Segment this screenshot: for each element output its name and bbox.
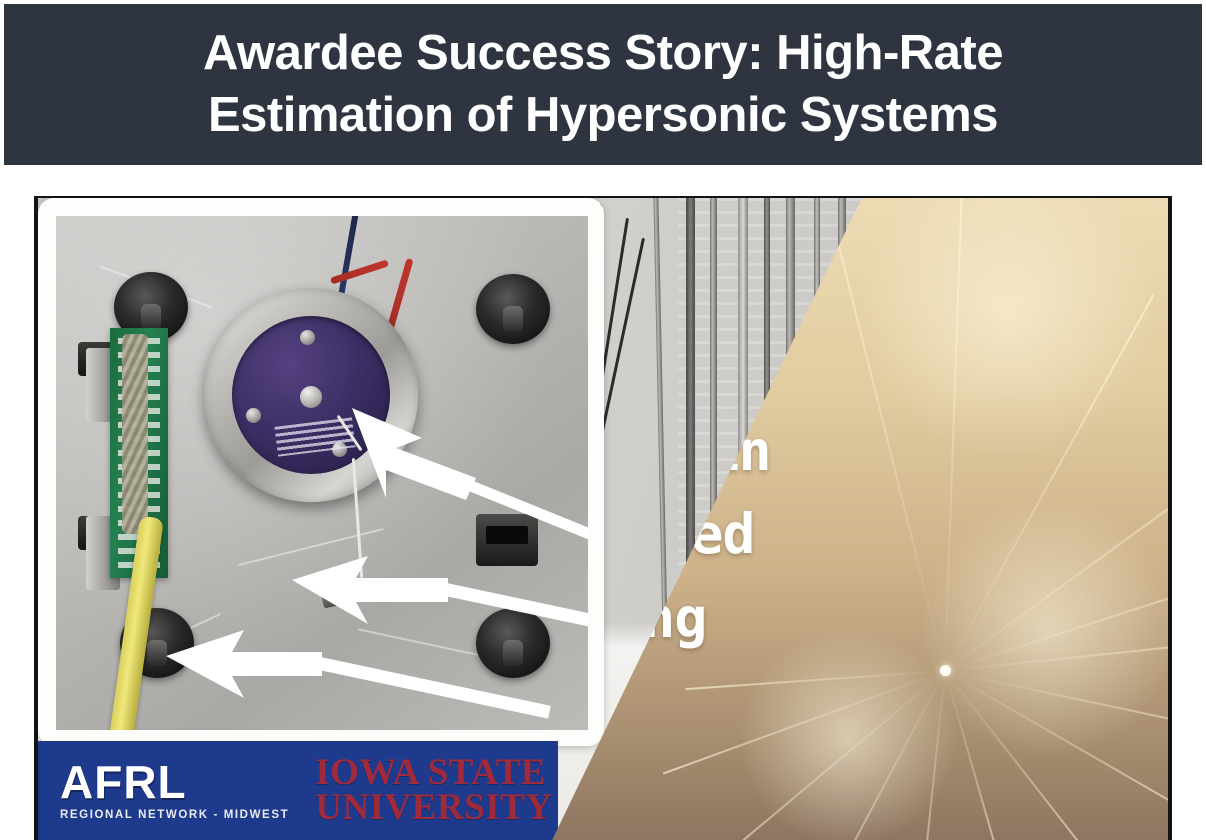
sensor-face [232,316,390,474]
isolator-mount [476,274,550,344]
iowa-state-logo: IOWA STATE UNIVERSITY [315,756,552,824]
surface-sensor-chip [320,585,349,608]
inset-photo-image [56,216,588,730]
isu-line-1: IOWA STATE [315,756,552,790]
isolator-mount [476,608,550,678]
afrl-logo: AFRL REGIONAL NETWORK - MIDWEST [60,760,289,821]
face-screw [300,330,315,345]
media-inner: sh [38,198,1168,840]
header-banner: Awardee Success Story: High-Rate Estimat… [4,4,1202,165]
plate-scratch [238,528,384,566]
sensor-housing [204,288,418,502]
red-lead-wire [330,259,389,284]
afrl-subtitle: REGIONAL NETWORK - MIDWEST [60,809,289,821]
page-title: Awardee Success Story: High-Rate Estimat… [163,23,1043,146]
metal-rail [653,198,667,635]
sponsor-logo-band: AFRL REGIONAL NETWORK - MIDWEST IOWA STA… [38,741,558,840]
slide-page: Awardee Success Story: High-Rate Estimat… [0,0,1206,840]
video-thumbnail-frame[interactable]: sh [34,196,1172,840]
inset-photo-frame [38,198,604,746]
face-screw [246,408,261,423]
network-node-dot [940,665,951,676]
shield-braid [122,334,148,534]
blue-lead-wire [338,216,360,296]
isu-line-2: UNIVERSITY [315,791,552,825]
afrl-wordmark: AFRL [60,760,187,804]
sensor-stud [300,386,322,408]
connector-block [476,514,538,566]
